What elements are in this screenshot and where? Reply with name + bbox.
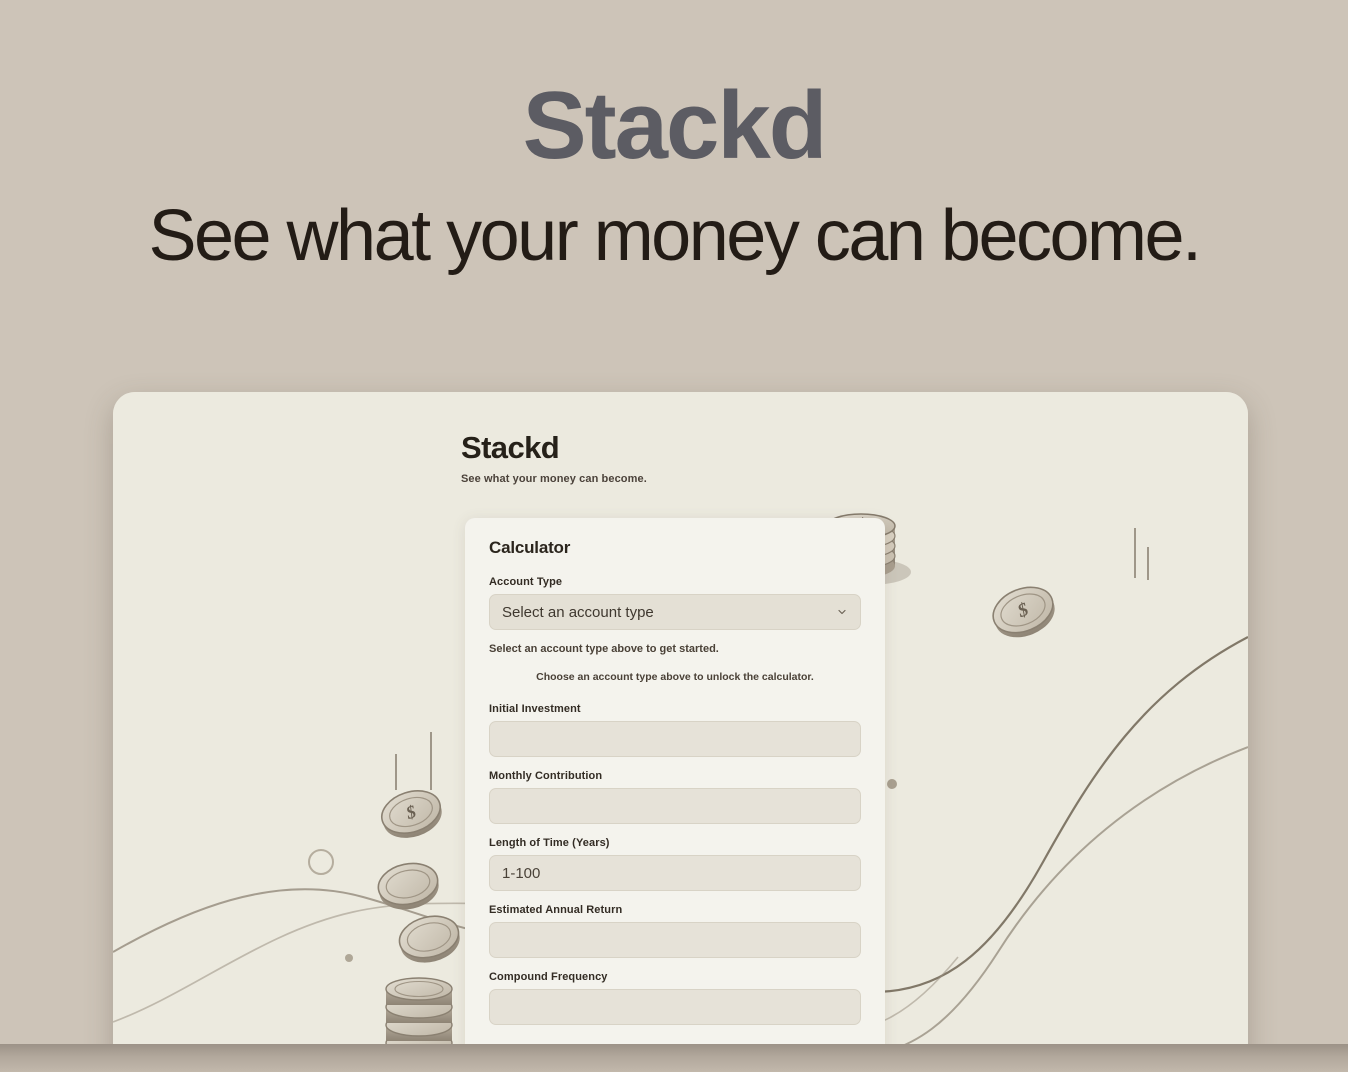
monthly-contribution-input[interactable] bbox=[489, 788, 861, 824]
field-monthly-contribution: Monthly Contribution bbox=[489, 770, 861, 824]
app-tagline: See what your money can become. bbox=[461, 466, 891, 485]
field-estimated-annual-return: Estimated Annual Return bbox=[489, 904, 861, 958]
coin-icon bbox=[395, 910, 464, 968]
length-of-time-input[interactable]: 1-100 bbox=[489, 855, 861, 891]
account-type-helper-text: Select an account type above to get star… bbox=[489, 643, 861, 655]
account-type-select[interactable]: Select an account type bbox=[489, 594, 861, 630]
viewport-bottom-shadow bbox=[0, 1044, 1348, 1072]
calculator-locked-note: Choose an account type above to unlock t… bbox=[489, 671, 861, 683]
account-type-label: Account Type bbox=[489, 576, 861, 588]
page-subtitle: See what your money can become. bbox=[0, 174, 1348, 272]
initial-investment-label: Initial Investment bbox=[489, 703, 861, 715]
monthly-contribution-label: Monthly Contribution bbox=[489, 770, 861, 782]
field-initial-investment: Initial Investment bbox=[489, 703, 861, 757]
svg-text:$: $ bbox=[1014, 599, 1032, 623]
length-of-time-label: Length of Time (Years) bbox=[489, 837, 861, 849]
coin-icon: $ bbox=[986, 579, 1061, 646]
app-header: Stackd See what your money can become. bbox=[461, 430, 891, 485]
account-type-value: Select an account type bbox=[502, 604, 654, 621]
estimated-annual-return-label: Estimated Annual Return bbox=[489, 904, 861, 916]
compound-frequency-input[interactable] bbox=[489, 989, 861, 1025]
field-compound-frequency: Compound Frequency bbox=[489, 971, 861, 1025]
coin-icon bbox=[374, 858, 442, 914]
hero-section: Stackd See what your money can become. bbox=[0, 0, 1348, 272]
coin-icon: $ bbox=[376, 784, 447, 845]
initial-investment-input[interactable] bbox=[489, 721, 861, 757]
field-account-type: Account Type Select an account type bbox=[489, 576, 861, 630]
app-canvas: $ $ bbox=[113, 392, 1248, 1072]
app-name: Stackd bbox=[461, 430, 891, 466]
compound-frequency-label: Compound Frequency bbox=[489, 971, 861, 983]
page-title: Stackd bbox=[0, 0, 1348, 174]
estimated-annual-return-input[interactable] bbox=[489, 922, 861, 958]
calculator-card: Calculator Account Type Select an accoun… bbox=[465, 518, 885, 1072]
length-of-time-placeholder: 1-100 bbox=[502, 865, 540, 882]
app-window-preview: $ $ bbox=[113, 392, 1248, 1072]
field-length-of-time: Length of Time (Years) 1-100 bbox=[489, 837, 861, 891]
chevron-down-icon bbox=[836, 606, 848, 618]
calculator-title: Calculator bbox=[489, 538, 861, 558]
svg-text:$: $ bbox=[403, 801, 419, 823]
